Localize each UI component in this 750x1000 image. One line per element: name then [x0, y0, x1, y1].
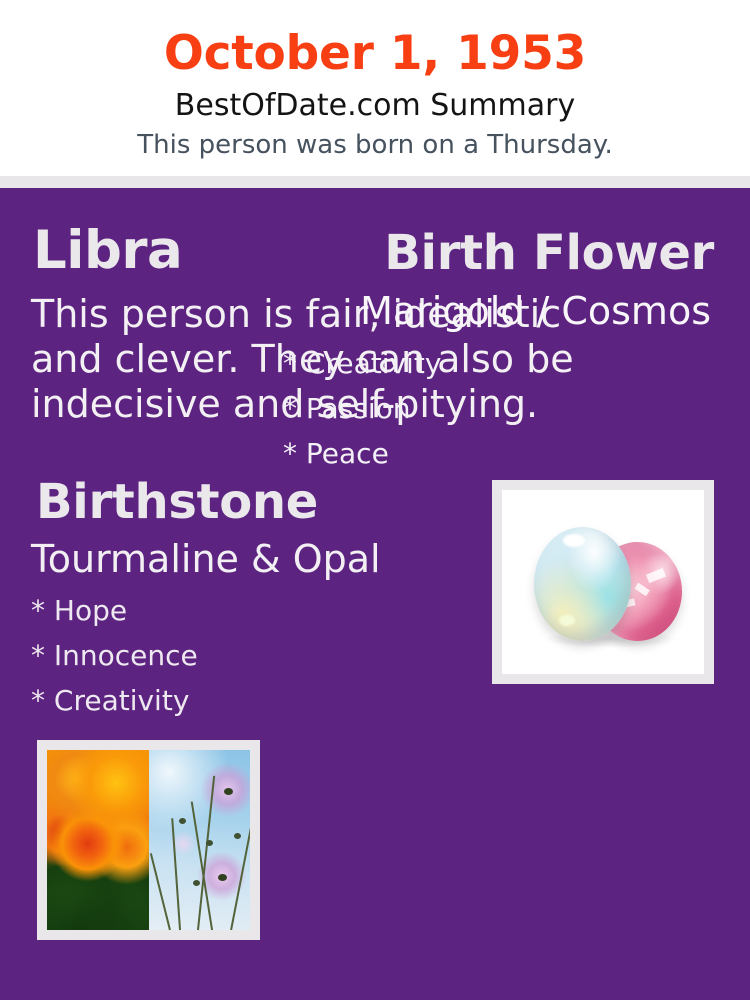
list-item: * Innocence	[31, 633, 198, 678]
birthstone-image-frame	[492, 480, 714, 684]
list-item: * Peace	[283, 431, 441, 476]
birthstone-image	[502, 490, 704, 674]
flower-bud	[234, 833, 241, 839]
page-title-date: October 1, 1953	[0, 25, 750, 83]
main-purple-panel: Libra This person is fair, idealistic an…	[0, 188, 750, 1000]
header-divider	[0, 176, 750, 188]
gemstone-illustration	[502, 490, 704, 674]
marigold-photo-half	[47, 750, 149, 930]
flower-bud	[193, 880, 200, 886]
birth-flower-image-frame	[37, 740, 260, 940]
birth-flower-heading: Birth Flower	[384, 224, 714, 282]
flower-stem	[150, 853, 171, 930]
cosmos-flower-center	[224, 788, 233, 795]
flower-illustration	[47, 750, 250, 930]
list-item: * Creativity	[283, 341, 441, 386]
list-item: * Hope	[31, 588, 198, 633]
birthstone-heading: Birthstone	[36, 473, 318, 531]
flower-stem	[230, 827, 250, 930]
flower-bud	[179, 818, 186, 824]
list-item: * Creativity	[31, 678, 198, 723]
header-section: October 1, 1953 BestOfDate.com Summary T…	[0, 0, 750, 176]
cosmos-photo-half	[149, 750, 251, 930]
site-summary-label: BestOfDate.com Summary	[0, 87, 750, 125]
foliage	[47, 883, 149, 930]
birth-flower-image	[47, 750, 250, 930]
zodiac-sign-heading: Libra	[33, 220, 182, 282]
birthstone-names: Tourmaline & Opal	[31, 536, 381, 582]
opal-sparkle	[563, 534, 585, 547]
flower-bud	[206, 840, 213, 846]
list-item: * Passion	[283, 386, 441, 431]
born-day-note: This person was born on a Thursday.	[0, 128, 750, 162]
opal-sparkle	[559, 615, 575, 626]
birthstone-traits-list: * Hope * Innocence * Creativity	[31, 588, 198, 723]
infographic-card: October 1, 1953 BestOfDate.com Summary T…	[0, 0, 750, 1000]
birth-flower-traits-list: * Creativity * Passion * Peace	[283, 341, 441, 476]
flower-stem	[171, 819, 181, 930]
cosmos-flower-center	[218, 874, 227, 881]
birth-flower-names: Marigold / Cosmos	[360, 288, 711, 334]
